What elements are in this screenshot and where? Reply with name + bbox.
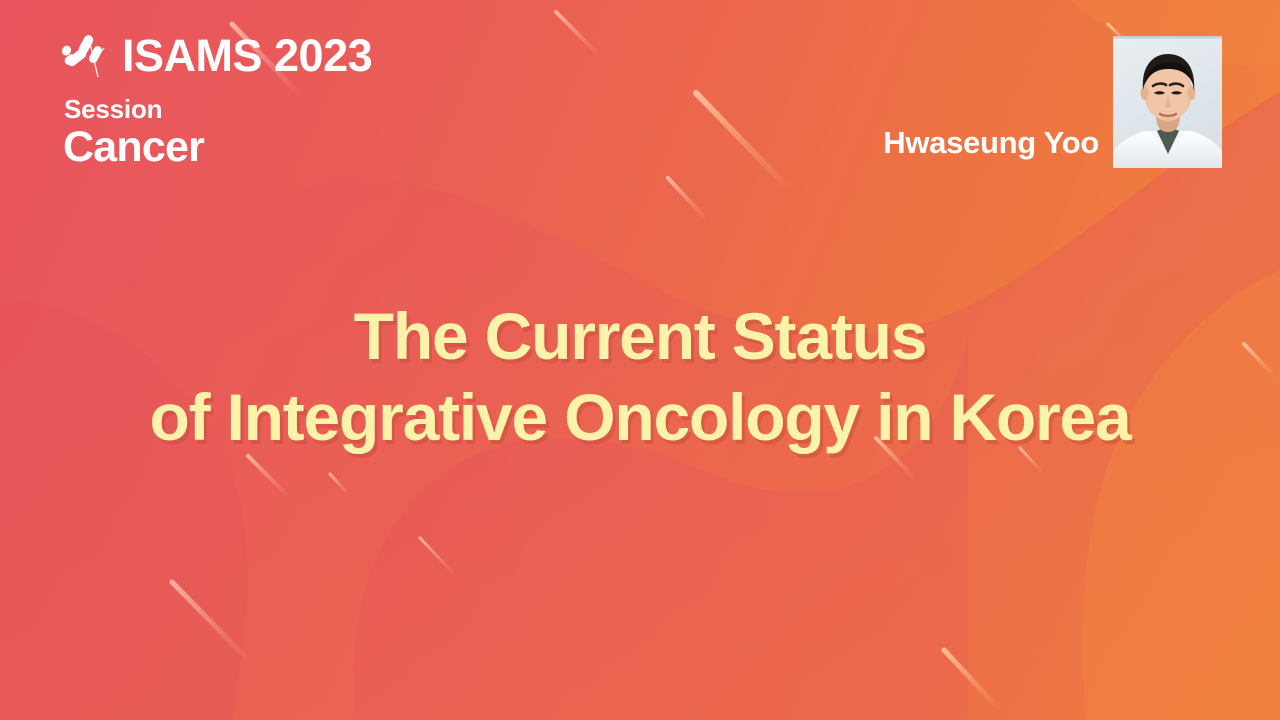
isams-needles-logo-icon bbox=[62, 31, 112, 81]
blob-sheen-right bbox=[1048, 450, 1280, 720]
presentation-title: The Current Status of Integrative Oncolo… bbox=[0, 296, 1280, 457]
title-line-1: The Current Status bbox=[40, 296, 1240, 377]
title-line-2: of Integrative Oncology in Korea bbox=[40, 377, 1240, 458]
brand-row: ISAMS 2023 bbox=[62, 28, 372, 82]
brand-block: ISAMS 2023 Session Cancer bbox=[62, 28, 372, 170]
speaker-portrait-photo bbox=[1113, 36, 1222, 168]
speaker-block: Hwaseung Yoo bbox=[883, 36, 1222, 168]
session-label: Session bbox=[64, 96, 372, 123]
speaker-name: Hwaseung Yoo bbox=[883, 127, 1099, 168]
brand-title: ISAMS 2023 bbox=[122, 33, 372, 78]
session-name: Cancer bbox=[63, 126, 372, 170]
session-title-slide: ISAMS 2023 Session Cancer Hwaseung Yoo bbox=[0, 0, 1280, 720]
